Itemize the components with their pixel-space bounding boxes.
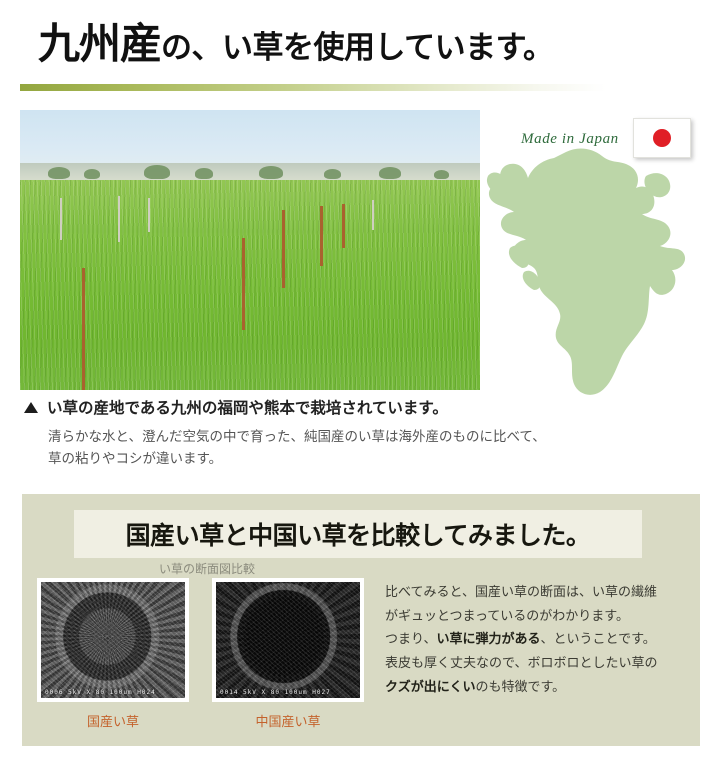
- micrograph-chinese-stamp: 0014 5kV X 80 100um H027: [220, 689, 356, 696]
- micrograph-chinese-grain: [216, 582, 360, 698]
- comparison-title-band: 国産い草と中国い草を比較してみました。: [74, 510, 642, 558]
- caption-line-2: 草の粘りやコシが違います。: [48, 448, 624, 470]
- photo-pole: [118, 196, 120, 242]
- comparison-line-1: 比べてみると、国産い草の断面は、い草の繊維: [385, 580, 695, 604]
- flag-red-disc: [653, 129, 671, 147]
- kyushu-map: [470, 140, 710, 402]
- photo-pole: [320, 206, 323, 266]
- micrograph-chinese-caption: 中国産い草: [212, 711, 364, 730]
- micrograph-domestic: 0006 5kV X 80 100um H024 国産い草: [37, 578, 189, 730]
- comparison-line-4: 表皮も厚く丈夫なので、ボロボロとしたい草の: [385, 651, 695, 675]
- comparison-title: 国産い草と中国い草を比較してみました。: [74, 516, 642, 552]
- comparison-emphasis-elasticity: い草に弾力がある: [436, 631, 540, 646]
- micrograph-chinese: 0014 5kV X 80 100um H027 中国産い草: [212, 578, 364, 730]
- micrograph-domestic-caption: 国産い草: [37, 711, 189, 730]
- comparison-emphasis-no-debris: クズが出にくい: [385, 679, 475, 694]
- photo-pole: [282, 210, 285, 288]
- photo-tree-line: [20, 159, 480, 179]
- comparison-line-2: がギュッとつまっているのがわかります。: [385, 604, 695, 628]
- caption-line-1: 清らかな水と、澄んだ空気の中で育った、純国産のい草は海外産のものに比べて、: [48, 426, 624, 448]
- comparison-line-5b: のも特徴です。: [475, 679, 565, 694]
- comparison-line-3: つまり、い草に弾力がある、ということです。: [385, 627, 695, 651]
- photo-pole: [372, 200, 374, 230]
- comparison-line-3c: 、ということです。: [541, 631, 656, 646]
- photo-caption-body: 清らかな水と、澄んだ空気の中で育った、純国産のい草は海外産のものに比べて、 草の…: [48, 426, 624, 471]
- page-title-strong: 九州産: [38, 22, 161, 68]
- micrograph-chinese-image: 0014 5kV X 80 100um H027: [212, 578, 364, 702]
- made-in-japan-label: Made in Japan: [521, 131, 619, 148]
- photo-caption-block: い草の産地である九州の福岡や熊本で栽培されています。 清らかな水と、澄んだ空気の…: [24, 396, 624, 471]
- cross-section-label: い草の断面図比較: [159, 560, 255, 577]
- page-title: 九州産の、い草を使用しています。: [38, 24, 553, 66]
- photo-pole: [82, 268, 85, 390]
- photo-pole: [242, 238, 245, 330]
- comparison-line-5: クズが出にくいのも特徴です。: [385, 675, 695, 699]
- comparison-description: 比べてみると、国産い草の断面は、い草の繊維 がギュッとつまっているのがわかります…: [385, 580, 695, 698]
- comparison-line-3a: つまり、: [385, 631, 436, 646]
- photo-grass-texture: [20, 180, 480, 390]
- micrograph-domestic-stamp: 0006 5kV X 80 100um H024: [45, 689, 181, 696]
- micrograph-domestic-grain: [41, 582, 185, 698]
- photo-pole: [148, 198, 150, 232]
- japan-flag-icon: [633, 118, 691, 158]
- photo-pole: [342, 204, 345, 248]
- igusa-field-photo: [20, 110, 480, 390]
- comparison-panel: 国産い草と中国い草を比較してみました。 い草の断面図比較 0006 5kV X …: [22, 494, 700, 746]
- heading-gradient-rule: [20, 84, 606, 91]
- photo-pole: [60, 198, 62, 240]
- photo-caption-headline: い草の産地である九州の福岡や熊本で栽培されています。: [24, 396, 624, 418]
- triangle-bullet-icon: [24, 402, 38, 413]
- micrograph-domestic-image: 0006 5kV X 80 100um H024: [37, 578, 189, 702]
- page-title-rest: の、い草を使用しています。: [161, 30, 553, 65]
- caption-headline-text: い草の産地である九州の福岡や熊本で栽培されています。: [47, 396, 448, 418]
